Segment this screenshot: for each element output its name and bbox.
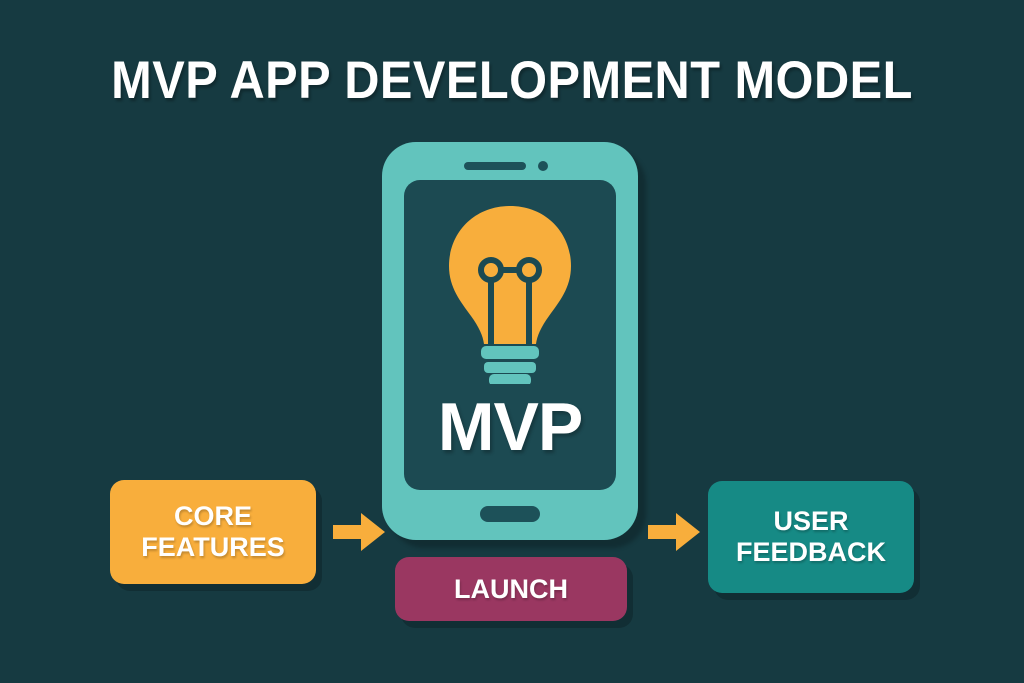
stage-user-feedback[interactable]: USER FEEDBACK: [708, 481, 914, 593]
stage-user-feedback-line1: USER: [773, 506, 848, 536]
stage-user-feedback-label: USER FEEDBACK: [736, 506, 886, 568]
front-camera-icon: [538, 161, 548, 171]
stage-core-features[interactable]: CORE FEATURES: [110, 480, 316, 584]
stage-user-feedback-line2: FEEDBACK: [736, 537, 886, 567]
speaker-slot-icon: [464, 162, 526, 170]
phone-device: MVP: [382, 142, 638, 540]
stage-core-features-line2: FEATURES: [141, 532, 285, 562]
infographic-canvas: MVP APP DEVELOPMENT MODEL: [0, 0, 1024, 683]
phone-screen: MVP: [404, 180, 616, 490]
stage-launch-label: LAUNCH: [454, 574, 568, 605]
stage-launch[interactable]: LAUNCH: [395, 557, 627, 621]
stage-core-features-line1: CORE: [174, 501, 252, 531]
lightbulb-icon: [437, 204, 583, 384]
home-button-icon: [480, 506, 540, 522]
arrow-right-icon: [648, 511, 700, 553]
page-title: MVP APP DEVELOPMENT MODEL: [41, 50, 983, 111]
stage-core-features-label: CORE FEATURES: [141, 501, 285, 563]
screen-label-mvp: MVP: [404, 388, 616, 466]
arrow-right-icon: [333, 511, 385, 553]
